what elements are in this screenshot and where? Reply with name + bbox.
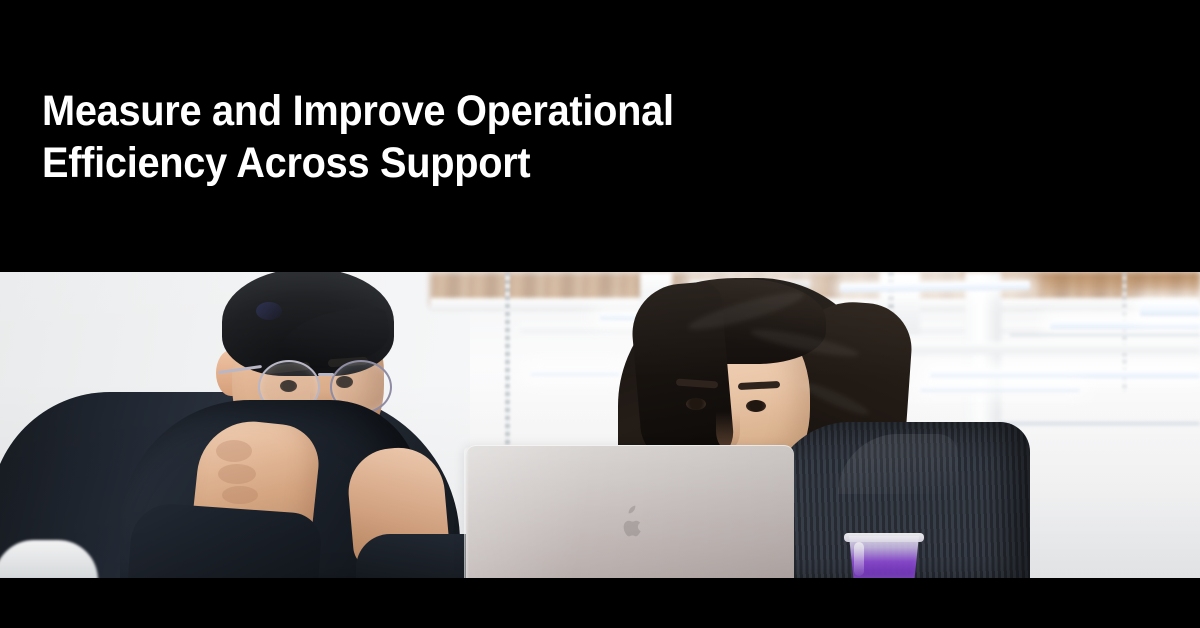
hoodie-sleeve [127,501,323,578]
page-title: Measure and Improve Operational Efficien… [42,86,790,190]
cup-rim [844,533,924,542]
knuckle [218,464,256,484]
knuckle [222,486,258,504]
cup-highlight [854,542,864,576]
glass-partition [1000,422,1200,425]
footer-band [0,578,1200,628]
header-band: Measure and Improve Operational Efficien… [0,0,1200,272]
glass-partition [1010,334,1200,336]
og-card: Measure and Improve Operational Efficien… [0,0,1200,628]
ceiling-light [1140,302,1200,316]
eyeglass-bridge [318,373,334,376]
macbook-laptop [466,445,794,578]
apple-logo-icon [615,505,645,541]
ceiling-light [1050,320,1200,329]
eye [746,400,766,412]
lens-reflection [256,302,282,320]
knuckle [216,440,252,462]
hero-image [0,272,1200,578]
eye [686,398,706,410]
ceiling-light [930,370,1200,378]
laptop-edge [464,447,469,578]
purple-drink-cup [846,536,922,578]
